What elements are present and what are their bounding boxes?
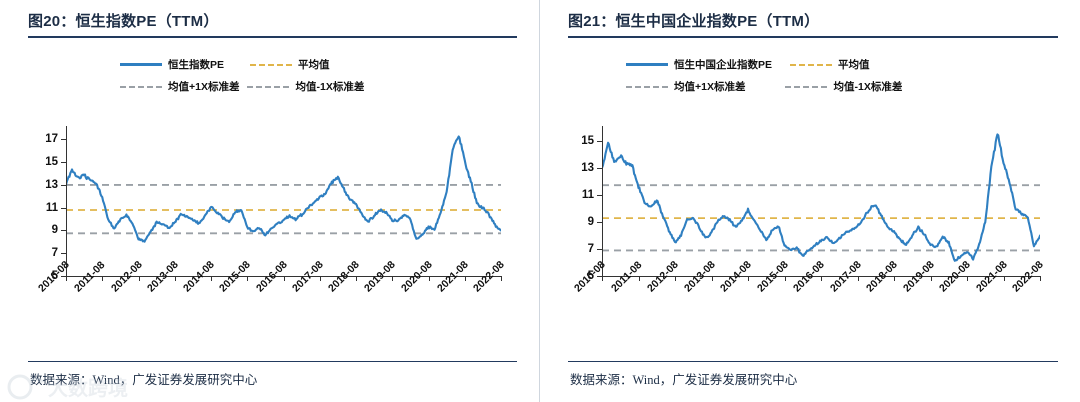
- y-axis-tick-label: 15: [36, 156, 58, 168]
- y-axis-tick-mark: [597, 249, 602, 250]
- legend-swatch-minus-sd-dashed-icon: [247, 86, 289, 88]
- y-axis-tick-label: 17: [36, 133, 58, 145]
- chart-legend-right: 恒生中国企业指数PE 平均值 均值+1X标准差 均值-1X标准差: [626, 56, 902, 95]
- legend-row-1: 恒生中国企业指数PE 平均值: [626, 56, 902, 73]
- title-divider-right: [568, 36, 1058, 38]
- chart-plot-area-right: 5791113152010-082011-082012-082013-08201…: [602, 128, 1040, 276]
- x-axis-tick-mark: [675, 276, 676, 281]
- y-axis-tick-label: 7: [572, 243, 594, 255]
- legend-item-series: 恒生指数PE: [120, 57, 224, 72]
- legend-item-mean: 平均值: [790, 57, 870, 72]
- x-axis-tick-mark: [1004, 276, 1005, 281]
- chart-svg: [66, 128, 501, 276]
- y-axis-tick-mark: [597, 195, 602, 196]
- source-note-right: 数据来源：Wind，广发证券发展研究中心: [570, 369, 797, 388]
- legend-swatch-mean-dashed-icon: [250, 64, 292, 66]
- x-axis-tick-mark: [465, 276, 466, 281]
- footer-divider-right: [568, 361, 1058, 362]
- legend-label-plus-sd: 均值+1X标准差: [674, 79, 745, 94]
- legend-item-mean: 平均值: [250, 57, 330, 72]
- title-divider-left: [28, 36, 517, 38]
- x-axis-tick-mark: [712, 276, 713, 281]
- x-axis-tick-mark: [284, 276, 285, 281]
- x-axis-tick-mark: [894, 276, 895, 281]
- x-axis-tick-mark: [356, 276, 357, 281]
- legend-item-minus-sd: 均值-1X标准差: [785, 79, 902, 94]
- legend-swatch-series-line-icon: [626, 63, 668, 66]
- x-axis-tick-mark: [821, 276, 822, 281]
- legend-swatch-minus-sd-dashed-icon: [785, 86, 827, 88]
- x-axis-tick-mark: [175, 276, 176, 281]
- legend-label-minus-sd: 均值-1X标准差: [833, 79, 902, 94]
- legend-item-plus-sd: 均值+1X标准差: [626, 79, 745, 94]
- x-axis-tick-mark: [931, 276, 932, 281]
- x-axis-tick-mark: [102, 276, 103, 281]
- x-axis-tick-mark: [858, 276, 859, 281]
- x-axis-tick-mark: [1040, 276, 1041, 281]
- source-note-left: 数据来源：Wind，广发证券发展研究中心: [30, 369, 257, 388]
- y-axis-line: [602, 126, 603, 278]
- x-axis-tick-mark: [639, 276, 640, 281]
- y-axis-tick-mark: [61, 162, 66, 163]
- legend-swatch-series-line-icon: [120, 63, 162, 66]
- y-axis-tick-mark: [597, 168, 602, 169]
- y-axis-tick-label: 11: [572, 189, 594, 201]
- legend-label-mean: 平均值: [298, 57, 330, 72]
- y-axis-tick-label: 15: [572, 135, 594, 147]
- legend-item-series: 恒生中国企业指数PE: [626, 57, 772, 72]
- y-axis-tick-label: 13: [572, 162, 594, 174]
- x-axis-tick-mark: [429, 276, 430, 281]
- legend-label-mean: 平均值: [838, 57, 870, 72]
- footer-divider-left: [28, 361, 517, 362]
- y-axis-tick-label: 7: [36, 247, 58, 259]
- figure-panel-right: 图21：恒生中国企业指数PE（TTM） 恒生中国企业指数PE 平均值 均值+1X…: [540, 0, 1080, 402]
- legend-row-2: 均值+1X标准差 均值-1X标准差: [120, 78, 364, 95]
- x-axis-tick-mark: [748, 276, 749, 281]
- x-axis-tick-mark: [602, 276, 603, 281]
- legend-label-plus-sd: 均值+1X标准差: [168, 79, 239, 94]
- y-axis-tick-label: 13: [36, 179, 58, 191]
- x-axis-tick-mark: [392, 276, 393, 281]
- series-line: [602, 134, 1040, 260]
- legend-swatch-plus-sd-dashed-icon: [120, 86, 162, 88]
- y-axis-tick-label: 11: [36, 202, 58, 214]
- y-axis-tick-mark: [61, 185, 66, 186]
- y-axis-tick-mark: [597, 141, 602, 142]
- x-axis-tick-mark: [785, 276, 786, 281]
- legend-item-minus-sd: 均值-1X标准差: [247, 79, 364, 94]
- legend-label-series: 恒生中国企业指数PE: [674, 57, 772, 72]
- legend-label-series: 恒生指数PE: [168, 57, 224, 72]
- legend-label-minus-sd: 均值-1X标准差: [295, 79, 364, 94]
- figure-panel-left: 图20：恒生指数PE（TTM） 恒生指数PE 平均值 均值+1X标准差: [0, 0, 540, 402]
- page-title-left: 图20：恒生指数PE（TTM）: [28, 10, 219, 31]
- legend-item-plus-sd: 均值+1X标准差: [120, 79, 239, 94]
- x-axis-tick-mark: [501, 276, 502, 281]
- x-axis-tick-mark: [247, 276, 248, 281]
- chart-plot-area-left: 579111315172010-082011-082012-082013-082…: [66, 128, 501, 276]
- y-axis-tick-mark: [597, 222, 602, 223]
- y-axis-tick-mark: [61, 230, 66, 231]
- x-axis-tick-mark: [211, 276, 212, 281]
- chart-svg: [602, 128, 1040, 276]
- legend-swatch-mean-dashed-icon: [790, 64, 832, 66]
- legend-row-1: 恒生指数PE 平均值: [120, 56, 364, 73]
- y-axis-tick-label: 9: [572, 216, 594, 228]
- figure-sheet: 图20：恒生指数PE（TTM） 恒生指数PE 平均值 均值+1X标准差: [0, 0, 1080, 402]
- x-axis-tick-mark: [320, 276, 321, 281]
- y-axis-tick-mark: [61, 208, 66, 209]
- x-axis-tick-mark: [66, 276, 67, 281]
- y-axis-line: [66, 126, 67, 278]
- y-axis-tick-mark: [61, 253, 66, 254]
- x-axis-tick-mark: [967, 276, 968, 281]
- legend-row-2: 均值+1X标准差 均值-1X标准差: [626, 78, 902, 95]
- y-axis-tick-mark: [61, 139, 66, 140]
- x-axis-tick-mark: [139, 276, 140, 281]
- series-line: [66, 137, 501, 242]
- chart-legend-left: 恒生指数PE 平均值 均值+1X标准差 均值-1X标准差: [120, 56, 364, 95]
- y-axis-tick-label: 9: [36, 224, 58, 236]
- legend-swatch-plus-sd-dashed-icon: [626, 86, 668, 88]
- page-title-right: 图21：恒生中国企业指数PE（TTM）: [568, 10, 819, 31]
